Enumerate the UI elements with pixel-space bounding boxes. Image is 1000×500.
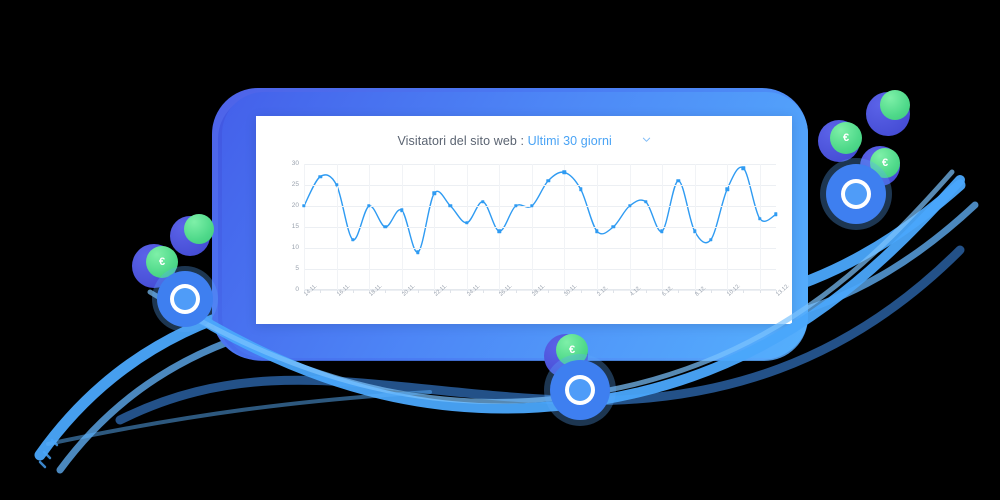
gridline-vertical [402, 164, 403, 290]
euro-symbol: € [882, 158, 888, 169]
x-axis-tickmark [450, 290, 451, 293]
euro-symbol: € [159, 257, 165, 268]
green-coin [184, 214, 214, 244]
ring-core-icon [845, 183, 867, 205]
green-coin [880, 90, 910, 120]
gridline-vertical [434, 164, 435, 290]
plot-area: 05101520253014.11.16.11.18.11.20.11.22.1… [278, 160, 780, 318]
y-axis-tick-label: 15 [292, 224, 299, 231]
gridline-vertical [499, 164, 500, 290]
x-axis-tickmark [516, 290, 517, 293]
data-point[interactable] [774, 213, 777, 216]
gridline-vertical [304, 164, 305, 290]
ring-core-icon [174, 288, 196, 310]
gridline-vertical [597, 164, 598, 290]
line-chart[interactable]: 05101520253014.11.16.11.18.11.20.11.22.1… [304, 164, 776, 290]
gridline-horizontal [304, 269, 776, 270]
gridline-vertical [662, 164, 663, 290]
gridline-vertical [630, 164, 631, 290]
date-range-selector[interactable]: Ultimi 30 giorni [528, 134, 612, 148]
x-axis-tickmark [613, 290, 614, 293]
gridline-vertical [467, 164, 468, 290]
y-axis-tick-label: 10 [292, 245, 299, 252]
x-axis-tickmark [646, 290, 647, 293]
bottom-coin-cluster: € [538, 330, 634, 422]
chart-card: Visitatori del sito web : Ultimi 30 gior… [256, 116, 792, 324]
gridline-horizontal [304, 185, 776, 186]
euro-symbol: € [843, 133, 849, 144]
x-axis-tick-label: 13.12. [776, 284, 791, 299]
y-axis-tick-label: 20 [292, 203, 299, 210]
x-axis-tickmark [483, 290, 484, 293]
x-axis-tickmark [320, 290, 321, 293]
gridline-vertical [695, 164, 696, 290]
x-axis-tickmark [385, 290, 386, 293]
y-axis-tick-label: 30 [292, 161, 299, 168]
x-axis-tickmark [743, 290, 744, 293]
chart-title-static: Visitatori del sito web : [397, 134, 524, 148]
gridline-vertical [727, 164, 728, 290]
x-axis-tickmark [678, 290, 679, 293]
chart-title: Visitatori del sito web : Ultimi 30 gior… [268, 126, 780, 148]
right-coin-cluster: € € [812, 92, 932, 222]
ring-core-icon [569, 379, 591, 401]
left-coin-cluster: € [126, 216, 238, 332]
illustration-stage: Visitatori del sito web : Ultimi 30 gior… [0, 0, 1000, 500]
x-axis-tickmark [760, 290, 761, 293]
x-axis-tickmark [353, 290, 354, 293]
series-path [304, 167, 776, 252]
gridline-vertical [369, 164, 370, 290]
x-axis-tickmark [711, 290, 712, 293]
gridline-vertical [532, 164, 533, 290]
tablet-screen: Visitatori del sito web : Ultimi 30 gior… [256, 116, 792, 324]
chevron-down-icon[interactable] [642, 135, 651, 144]
gridline-horizontal [304, 206, 776, 207]
x-axis-tickmark [581, 290, 582, 293]
y-axis-tick-label: 0 [295, 287, 299, 294]
y-axis-tick-label: 5 [295, 266, 299, 273]
gridline-vertical [564, 164, 565, 290]
green-euro-coin: € [830, 122, 862, 154]
gridline-vertical [760, 164, 761, 290]
x-axis-tickmark [548, 290, 549, 293]
gridline-horizontal [304, 164, 776, 165]
x-axis-tickmark [418, 290, 419, 293]
gridline-horizontal [304, 248, 776, 249]
gridline-horizontal [304, 227, 776, 228]
y-axis-tick-label: 25 [292, 182, 299, 189]
